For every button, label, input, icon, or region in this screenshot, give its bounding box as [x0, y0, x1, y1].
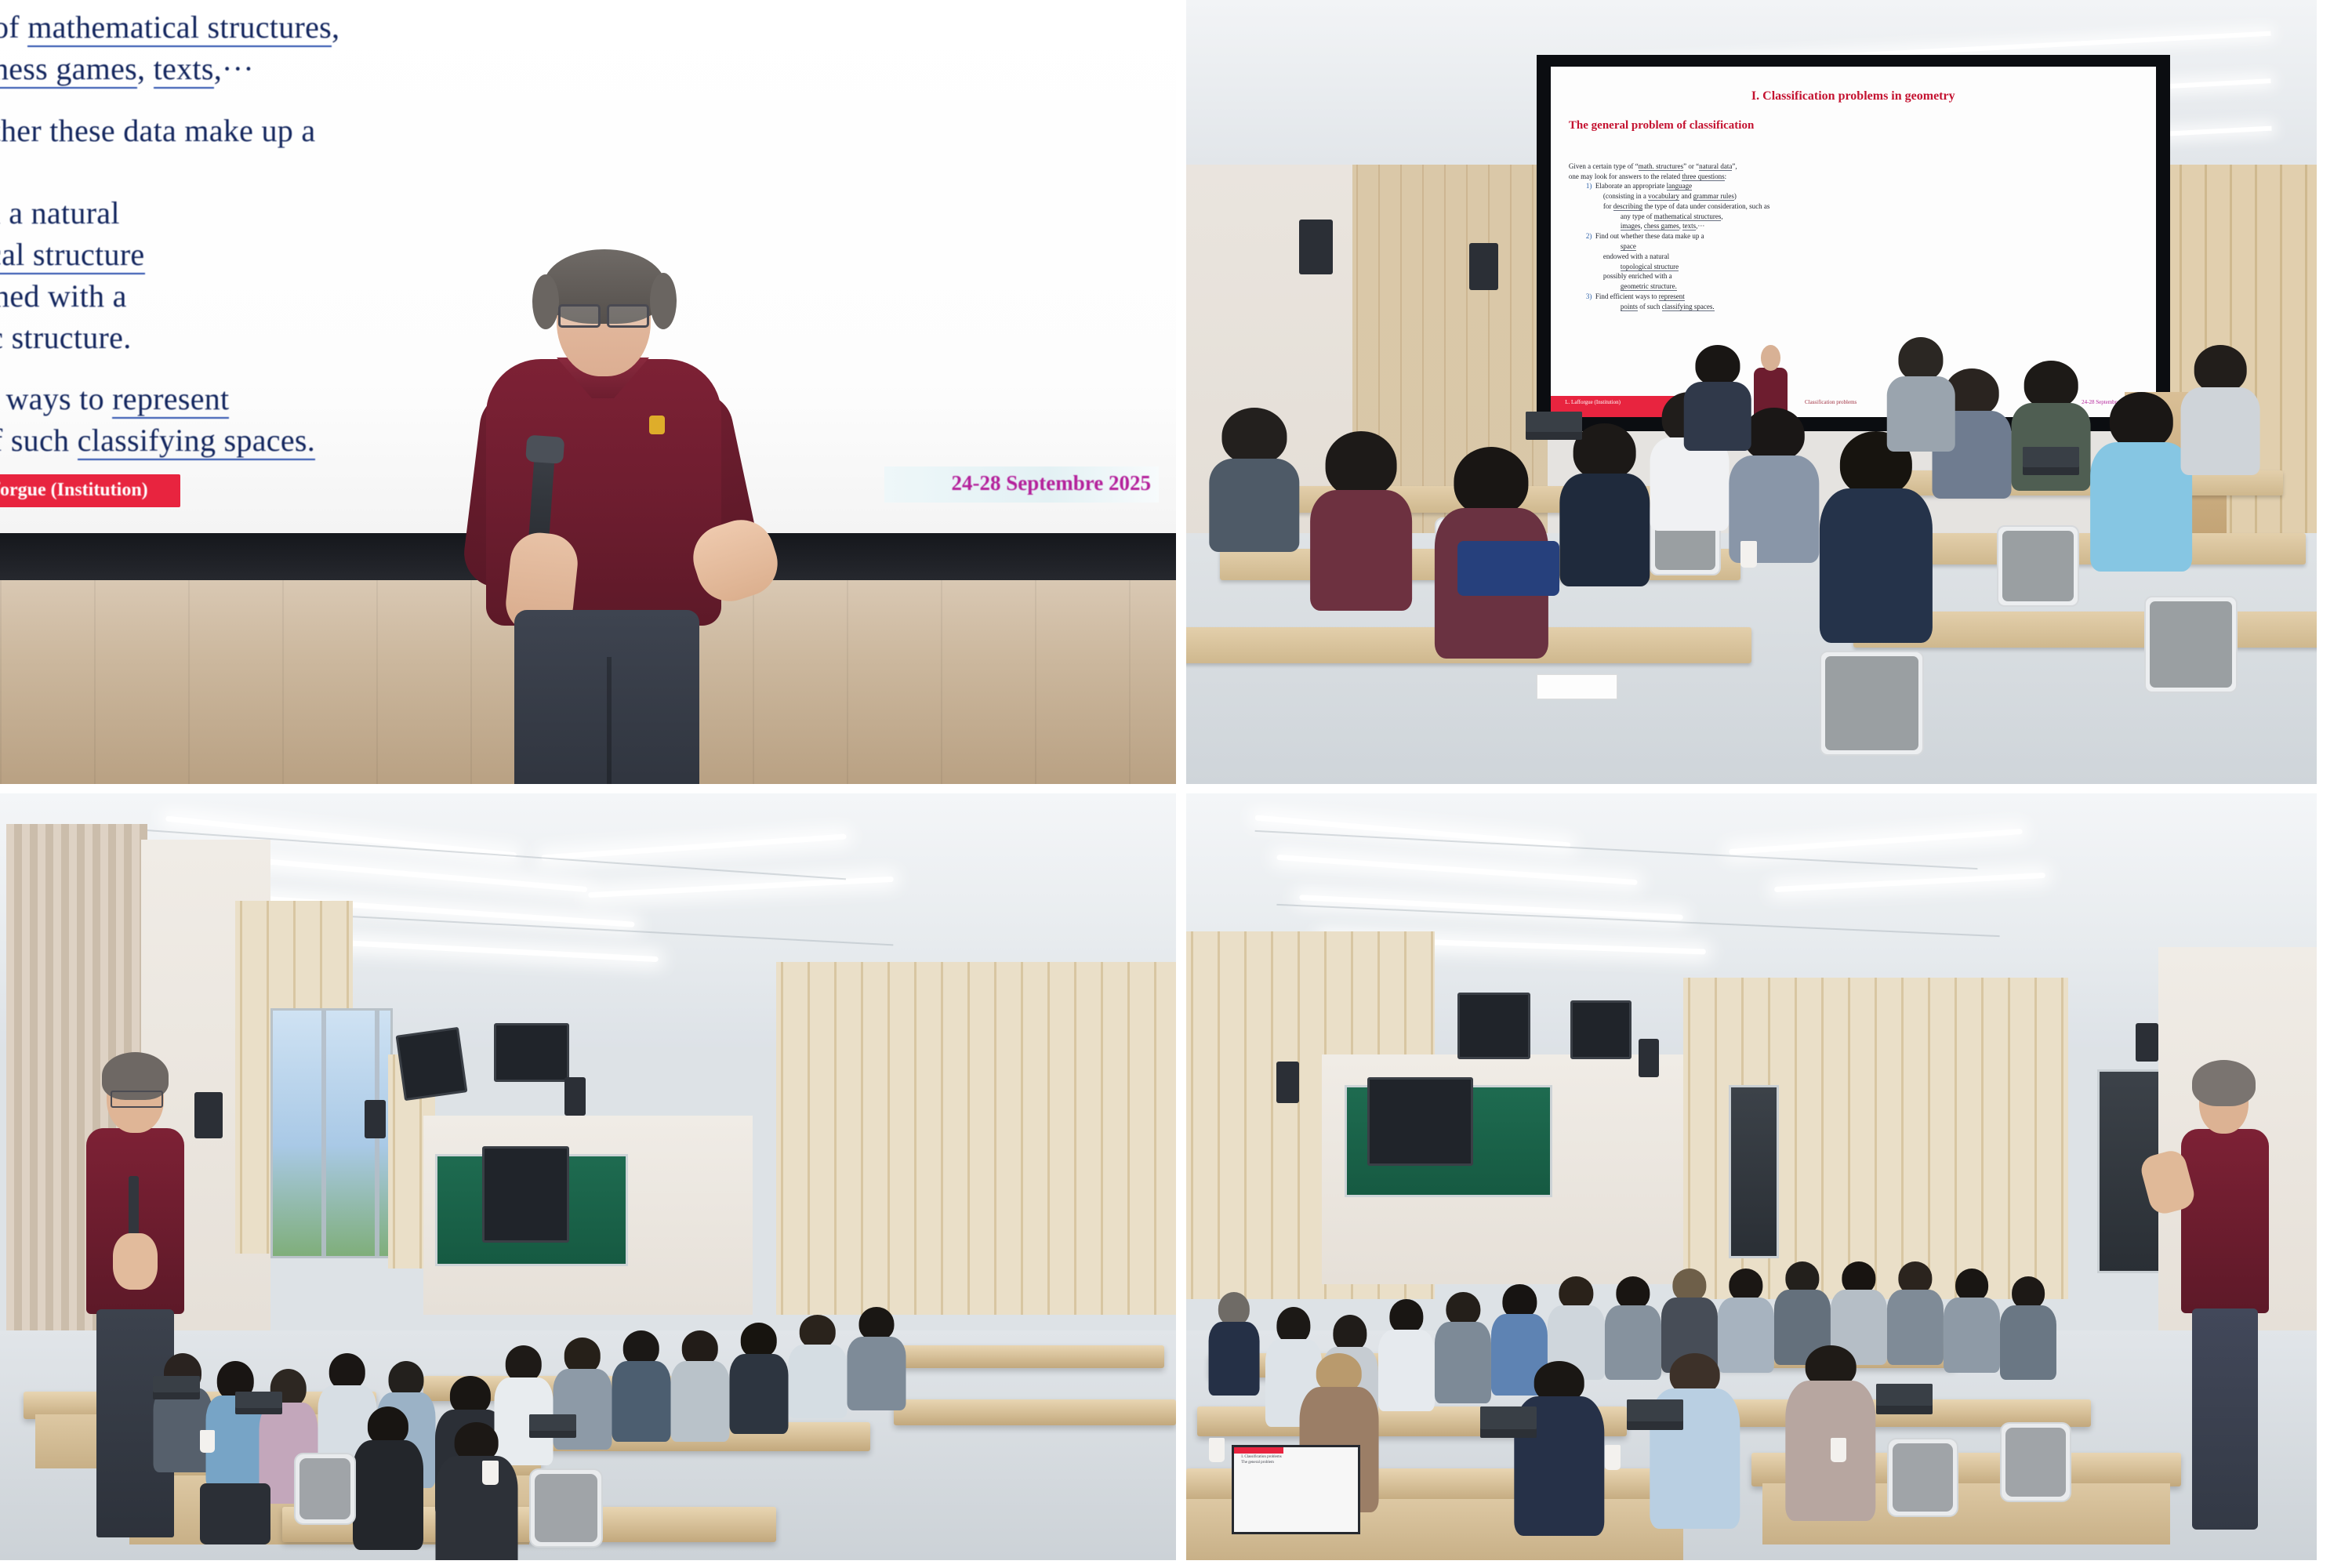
- audience-member: [1559, 423, 1650, 580]
- speaker-figure-right: [2170, 1069, 2283, 1530]
- photo-room-wide-left: [0, 793, 1176, 1560]
- acoustic-wall-panel: [776, 962, 1176, 1315]
- chair: [2144, 596, 2238, 693]
- slide-footer-left: L. Lafforgue (Institution): [1565, 399, 1621, 405]
- laptop-icon: [1627, 1399, 1683, 1430]
- photo-room-wide-right: I. Classification problemsThe general pr…: [1186, 793, 2317, 1560]
- slide-footer-banner-text: afforgue (Institution): [0, 480, 148, 501]
- confidence-monitor-text: I. Classification problemsThe general pr…: [1241, 1454, 1351, 1466]
- slide-item-1-line-4: any type of mathematical structures,: [1569, 212, 2138, 222]
- audience-member: [1209, 408, 1299, 549]
- slide-fg-line-4: ace: [0, 152, 784, 192]
- coffee-cup-icon: [482, 1461, 499, 1485]
- audience-member: [847, 1307, 906, 1406]
- backpack: [200, 1483, 270, 1544]
- laptop-icon: [1876, 1384, 1933, 1414]
- slide-item-1-line-5: images, chess games, texts,···: [1569, 221, 2138, 231]
- laptop-icon: [153, 1376, 200, 1399]
- audience-member: [1378, 1299, 1435, 1406]
- slide-intro-2: one may look for answers to the related …: [1569, 172, 2138, 182]
- photo-speaker-slide: y type of mathematical structures, ages,…: [0, 0, 1176, 784]
- slide-item-2-line-1: 2) Find out whether these data make up a: [1569, 231, 2138, 241]
- slide-item-2-line-5: possibly enriched with a: [1569, 271, 2138, 281]
- chair: [1820, 651, 1925, 756]
- slide-section-title: I. Classification problems in geometry: [1551, 89, 2156, 103]
- audience-member: [1435, 1292, 1491, 1399]
- audience-member-foreground: [1785, 1345, 1875, 1514]
- slide-item-1-line-2: (consisting in a vocabulary and grammar …: [1569, 191, 2138, 201]
- slide-footer-center: Classification problems: [1805, 399, 1857, 405]
- ceiling-monitor: [494, 1023, 569, 1081]
- chair: [1997, 525, 2079, 607]
- paper-sheet: [1537, 674, 1617, 699]
- audience-member: [1887, 1261, 1944, 1361]
- audience-member: [1209, 1292, 1260, 1392]
- laptop-icon: [1526, 412, 1582, 440]
- coffee-cup-icon: [1605, 1445, 1621, 1469]
- ceiling-monitor: [1570, 1000, 1632, 1058]
- slide-fg-line-1: y type of mathematical structures,: [0, 8, 784, 48]
- wall-speaker-icon: [1469, 243, 1498, 290]
- photo-collage: y type of mathematical structures, ages,…: [0, 0, 2352, 1568]
- wall-speaker-icon: [1299, 220, 1333, 274]
- audience-member: [1887, 337, 1955, 447]
- slide-heading: The general problem of classification: [1569, 119, 1754, 132]
- eyeglasses-icon: [111, 1091, 163, 1108]
- backpack: [1457, 541, 1559, 596]
- audience-member: [670, 1330, 729, 1438]
- audience-member: [788, 1315, 847, 1414]
- slide-item-2-line-6: geometric structure.: [1569, 281, 2138, 292]
- polo-logo-icon: [649, 416, 665, 434]
- laptop-icon: [2023, 447, 2079, 475]
- audience-member: [1311, 431, 1413, 604]
- desk-row: [894, 1399, 1176, 1425]
- audience-member: [612, 1330, 670, 1438]
- slide-item-3-line-2: points of such classifying spaces.: [1569, 302, 2138, 312]
- slide-fg-line-5: ed with a natural: [0, 194, 784, 234]
- wall-speaker-icon: [1639, 1039, 1659, 1077]
- audience-member: [2091, 392, 2193, 564]
- slide-footer-banner: afforgue (Institution): [0, 474, 180, 507]
- speaker-legs: [514, 610, 699, 784]
- coffee-cup-icon: [1740, 541, 1758, 568]
- ceiling-monitor: [1457, 993, 1530, 1058]
- audience-member: [353, 1406, 423, 1544]
- slide-footer-date-text: 24-28 Septembre 2025: [952, 471, 1151, 495]
- chair: [2000, 1422, 2071, 1502]
- chair: [529, 1468, 603, 1548]
- audience-member: [435, 1422, 517, 1560]
- door: [1729, 1085, 1779, 1258]
- audience-member: [206, 1361, 265, 1483]
- audience-member: [1944, 1269, 2000, 1368]
- photo-room-screen: I. Classification problems in geometry T…: [1186, 0, 2317, 784]
- coffee-cup-icon: [200, 1430, 215, 1453]
- wall-monitor: [1367, 1077, 1474, 1167]
- slide-item-2-line-4: topological structure: [1569, 262, 2138, 272]
- audience-member: [1683, 345, 1751, 447]
- audience-member: [1820, 431, 1933, 635]
- laptop-icon: [529, 1414, 576, 1437]
- audience-member: [2181, 345, 2260, 470]
- slide-item-1-line-1: 1) Elaborate an appropriate language: [1569, 181, 2138, 191]
- audience-member-foreground: [1514, 1361, 1604, 1530]
- wall-speaker-icon: [2136, 1023, 2158, 1062]
- eyeglasses-icon: [558, 304, 649, 323]
- wall-speaker-icon: [1276, 1062, 1299, 1103]
- audience-member: [729, 1323, 788, 1430]
- laptop-icon: [1480, 1406, 1537, 1437]
- chair: [1887, 1438, 1958, 1518]
- audience-member: [2000, 1276, 2056, 1376]
- slide-intro-1: Given a certain type of “math. structure…: [1569, 162, 2138, 172]
- slide-fg-line-3: ut whether these data make up a: [0, 111, 784, 151]
- wall-speaker-icon: [564, 1077, 586, 1116]
- coffee-cup-icon: [1209, 1438, 1225, 1462]
- confidence-monitor: I. Classification problemsThe general pr…: [1232, 1445, 1361, 1534]
- ceiling-monitor: [396, 1027, 468, 1102]
- audience-member-foreground: [1650, 1353, 1740, 1522]
- slide-item-3-line-1: 3) Find efficient ways to represent: [1569, 292, 2138, 302]
- speaker-figure-front: [439, 259, 768, 784]
- slide-footer-date-plate: 24-28 Septembre 2025: [884, 466, 1159, 503]
- coffee-cup-icon: [1831, 1438, 1846, 1462]
- wall-monitor: [482, 1146, 569, 1243]
- slide-item-2-line-3: endowed with a natural: [1569, 252, 2138, 262]
- laptop-icon: [235, 1392, 282, 1414]
- slide-item-1-line-3: for describing the type of data under co…: [1569, 201, 2138, 212]
- wall-speaker-icon: [365, 1100, 386, 1138]
- chair: [294, 1453, 356, 1525]
- slide-body: Given a certain type of “math. structure…: [1569, 162, 2138, 311]
- slide-item-2-line-2: space: [1569, 241, 2138, 252]
- slide-fg-line-2: ages, chess games, texts,···: [0, 49, 784, 89]
